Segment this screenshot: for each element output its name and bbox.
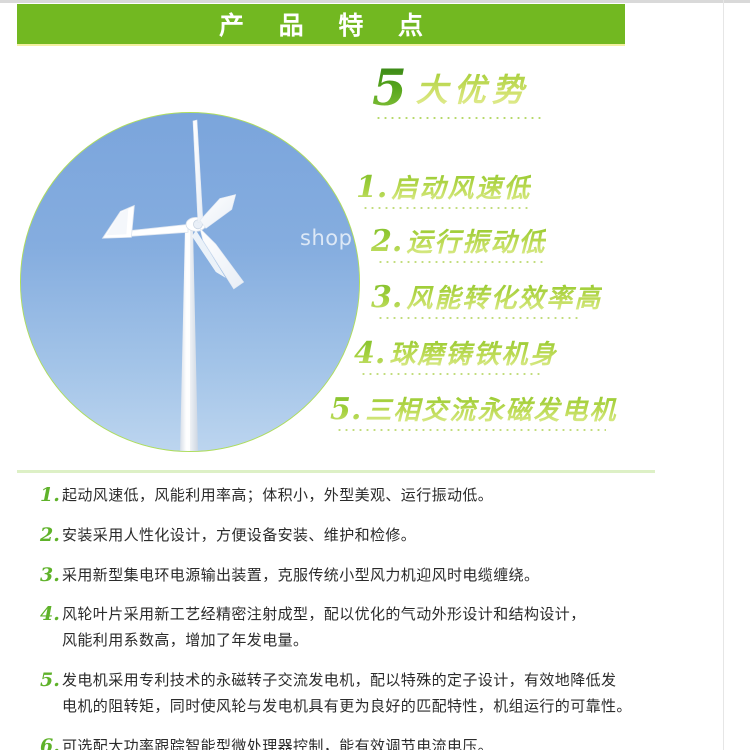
product-features-page: 产 品 特 点 (0, 0, 750, 750)
feature-row: 4. 风轮叶片采用新工艺经精密注射成型，配以优化的气动外形设计和结构设计， 风能… (40, 602, 700, 654)
advantage-item-4-dotted-underline (360, 373, 540, 375)
advantage-item-1-number: 1. (356, 170, 387, 205)
advantages-heading-dotted-underline (375, 117, 542, 119)
feature-body: 起动风速低，风能利用率高；体积小，外型美观、运行振动低。 (62, 483, 700, 509)
feature-number: 2. (40, 523, 62, 549)
feature-body: 采用新型集电环电源输出装置，克服传统小型风力机迎风时电缆缠绕。 (62, 563, 700, 589)
advantage-item-4-number: 4. (354, 336, 385, 371)
advantage-item-3-number: 3. (371, 280, 402, 315)
section-header-banner: 产 品 特 点 (17, 4, 625, 46)
advantage-item-4: 4.球磨铸铁机身 (354, 334, 557, 375)
advantages-heading-number: 5 (372, 58, 407, 117)
advantage-item-1: 1.启动风速低 (356, 168, 531, 209)
feature-line: 风轮叶片采用新工艺经精密注射成型，配以优化的气动外形设计和结构设计， (62, 602, 700, 628)
wind-turbine-photo (20, 112, 360, 452)
feature-line: 安装采用人性化设计，方便设备安装、维护和检修。 (62, 523, 700, 549)
advantage-item-5: 5.三相交流永磁发电机 (330, 390, 617, 431)
feature-number: 6. (40, 734, 62, 750)
feature-line: 可选配大功率跟踪智能型微处理器控制，能有效调节电流电压。 (62, 734, 700, 750)
advantage-item-2-dotted-underline (377, 261, 547, 263)
feature-row: 1. 起动风速低，风能利用率高；体积小，外型美观、运行振动低。 (40, 483, 700, 509)
advantage-item-3: 3.风能转化效率高 (371, 278, 602, 319)
feature-number: 3. (40, 563, 62, 589)
feature-line: 风能利用系数高，增加了年发电量。 (62, 628, 700, 654)
section-divider (17, 470, 655, 473)
advantage-item-5-number: 5. (330, 392, 361, 427)
feature-line: 发电机采用专利技术的永磁转子交流发电机，配以特殊的定子设计，有效地降低发 (62, 668, 700, 694)
page-title: 产 品 特 点 (206, 6, 436, 42)
advantage-item-5-dotted-underline (336, 429, 606, 431)
feature-line: 电机的阻转矩，同时使风轮与发电机具有更为良好的匹配特性，机组运行的可靠性。 (62, 694, 700, 720)
advantages-heading: 5大优势 (372, 58, 530, 117)
advantage-item-2-text: 运行振动低 (406, 228, 546, 258)
feature-list: 1. 起动风速低，风能利用率高；体积小，外型美观、运行振动低。 2. 安装采用人… (40, 483, 700, 750)
feature-row: 3. 采用新型集电环电源输出装置，克服传统小型风力机迎风时电缆缠绕。 (40, 563, 700, 589)
feature-body: 安装采用人性化设计，方便设备安装、维护和检修。 (62, 523, 700, 549)
feature-row: 5. 发电机采用专利技术的永磁转子交流发电机，配以特殊的定子设计，有效地降低发 … (40, 668, 700, 720)
feature-body: 风轮叶片采用新工艺经精密注射成型，配以优化的气动外形设计和结构设计， 风能利用系… (62, 602, 700, 654)
feature-row: 6. 可选配大功率跟踪智能型微处理器控制，能有效调节电流电压。 (40, 734, 700, 750)
feature-line: 起动风速低，风能利用率高；体积小，外型美观、运行振动低。 (62, 483, 700, 509)
advantages-heading-label: 大优势 (416, 71, 530, 109)
page-right-edge-divider (723, 0, 724, 750)
feature-body: 可选配大功率跟踪智能型微处理器控制，能有效调节电流电压。 (62, 734, 700, 750)
feature-line: 采用新型集电环电源输出装置，克服传统小型风力机迎风时电缆缠绕。 (62, 563, 700, 589)
feature-number: 5. (40, 668, 62, 694)
feature-number: 4. (40, 602, 62, 628)
page-top-strip (0, 0, 750, 3)
advantage-item-3-text: 风能转化效率高 (406, 284, 602, 314)
feature-body: 发电机采用专利技术的永磁转子交流发电机，配以特殊的定子设计，有效地降低发 电机的… (62, 668, 700, 720)
wind-turbine-illustration (21, 113, 359, 451)
advantage-item-5-text: 三相交流永磁发电机 (365, 396, 617, 426)
feature-row: 2. 安装采用人性化设计，方便设备安装、维护和检修。 (40, 523, 700, 549)
advantage-item-3-dotted-underline (377, 317, 582, 319)
advantage-item-2: 2.运行振动低 (371, 222, 547, 263)
feature-number: 1. (40, 483, 62, 509)
advantage-item-2-number: 2. (371, 224, 402, 259)
advantage-item-1-dotted-underline (362, 207, 530, 209)
advantage-item-1-text: 启动风速低 (391, 174, 531, 204)
advantage-item-4-text: 球磨铸铁机身 (389, 340, 557, 370)
